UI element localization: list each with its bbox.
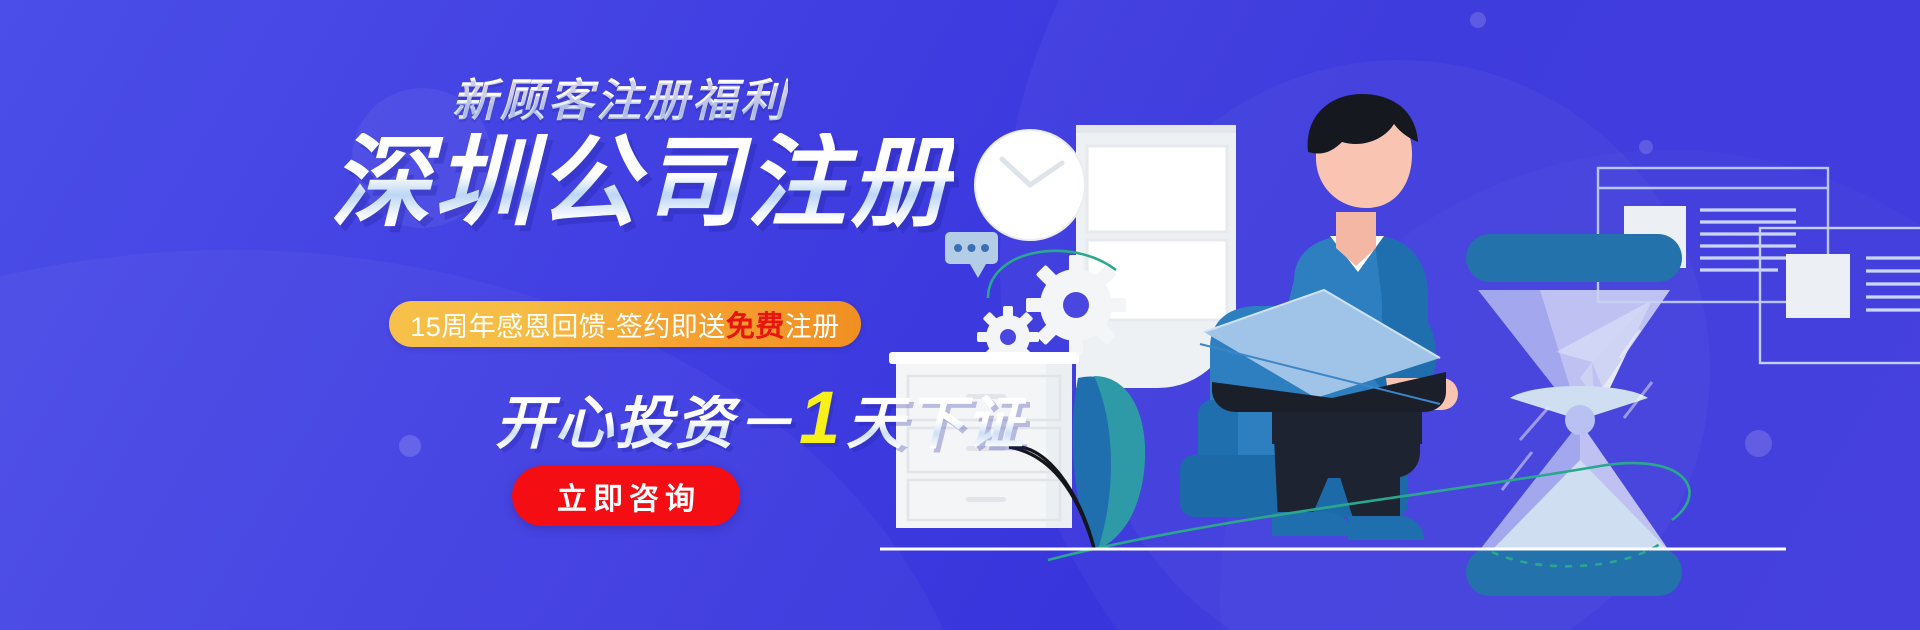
promo-highlight: 免费 [726,303,785,345]
subheadline-before: 开心投资－ [495,395,795,453]
document-card-bottom-content [1786,254,1920,318]
subheadline-number: 1 [795,381,846,455]
copy-block: 新顾客注册福利 深圳公司注册 15周年感恩回馈-签约即送免费注册 开心投资－1天… [0,0,1000,630]
promo-prefix: 15周年感恩回馈-签约即送 [410,305,726,344]
eyebrow-text: 新顾客注册福利 [452,64,788,129]
promo-suffix: 注册 [785,305,840,344]
promo-text: 15周年感恩回馈-签约即送免费注册 [410,303,840,345]
promo-badge: 15周年感恩回馈-签约即送免费注册 [389,301,861,347]
subheadline: 开心投资－1天下证 [495,381,1026,455]
illustration [880,0,1920,630]
gear-large-icon [1026,255,1126,355]
promo-banner: 新顾客注册福利 深圳公司注册 15周年感恩回馈-签约即送免费注册 开心投资－1天… [0,0,1920,630]
page-title: 深圳公司注册 [330,133,954,233]
consult-now-button[interactable]: 立即咨询 [512,466,740,526]
subheadline-after: 天下证 [846,395,1026,453]
hourglass [1466,234,1682,596]
